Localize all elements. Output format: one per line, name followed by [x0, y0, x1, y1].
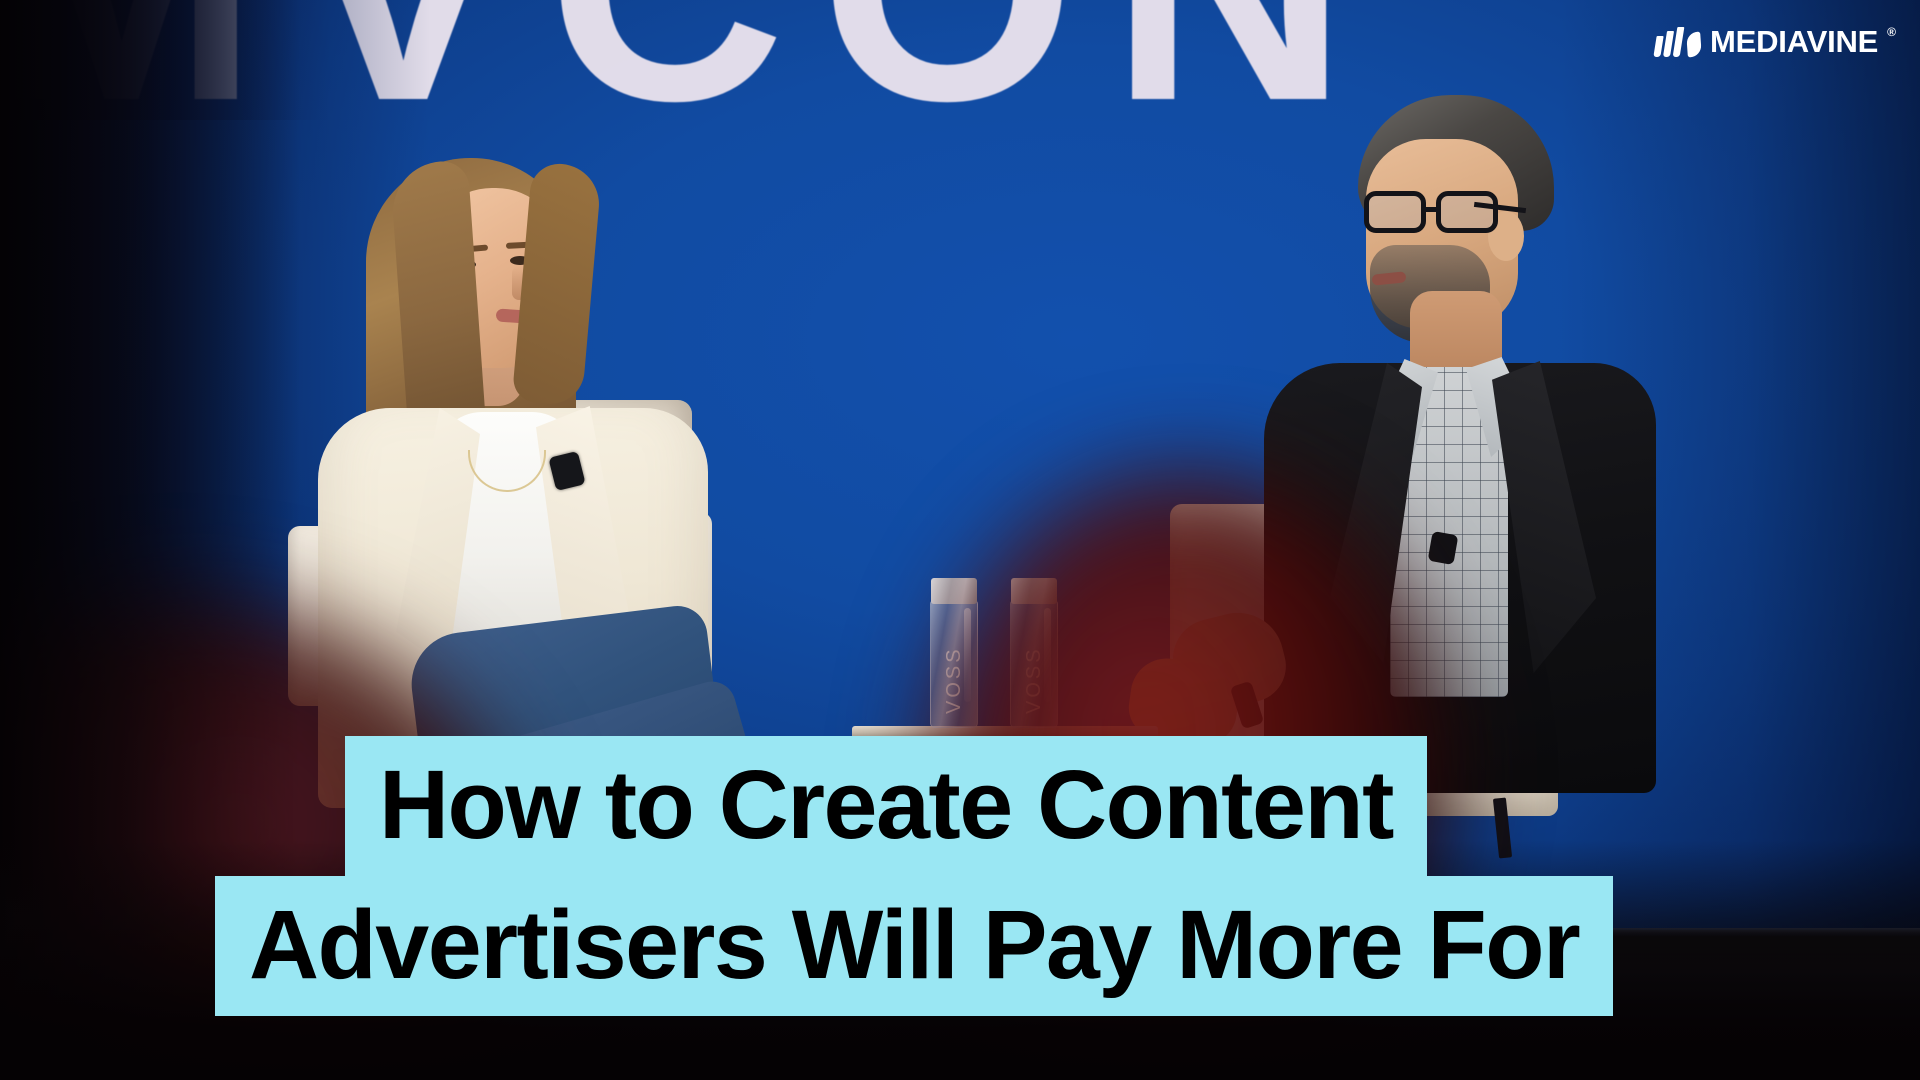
registered-trademark-symbol: ® [1887, 25, 1896, 39]
bottle-cap [1011, 578, 1057, 604]
title-overlay: How to Create Content Advertisers Will P… [0, 736, 1920, 1016]
title-line-2: Advertisers Will Pay More For [215, 876, 1613, 1016]
mediavine-wordmark: MEDIAVINE [1710, 24, 1878, 60]
voss-bottle-2: VOSS [1010, 578, 1058, 728]
eyeglasses-left-lens [1364, 191, 1426, 233]
voss-label-2: VOSS [1022, 630, 1046, 714]
speaker-left [300, 150, 720, 770]
voss-bottle-1: VOSS [930, 578, 978, 728]
lavalier-mic-right [1428, 531, 1459, 565]
voss-label-1: VOSS [942, 630, 966, 714]
video-thumbnail: MVCON [0, 0, 1920, 1080]
mediavine-logo: MEDIAVINE ® [1655, 22, 1896, 62]
eyeglasses-right-lens [1436, 191, 1498, 233]
leaf-icon [1686, 32, 1702, 58]
bottle-cap [931, 578, 977, 604]
mediavine-mark-icon [1655, 27, 1701, 57]
speaker-right [1270, 95, 1690, 775]
title-line-1: How to Create Content [345, 736, 1427, 876]
